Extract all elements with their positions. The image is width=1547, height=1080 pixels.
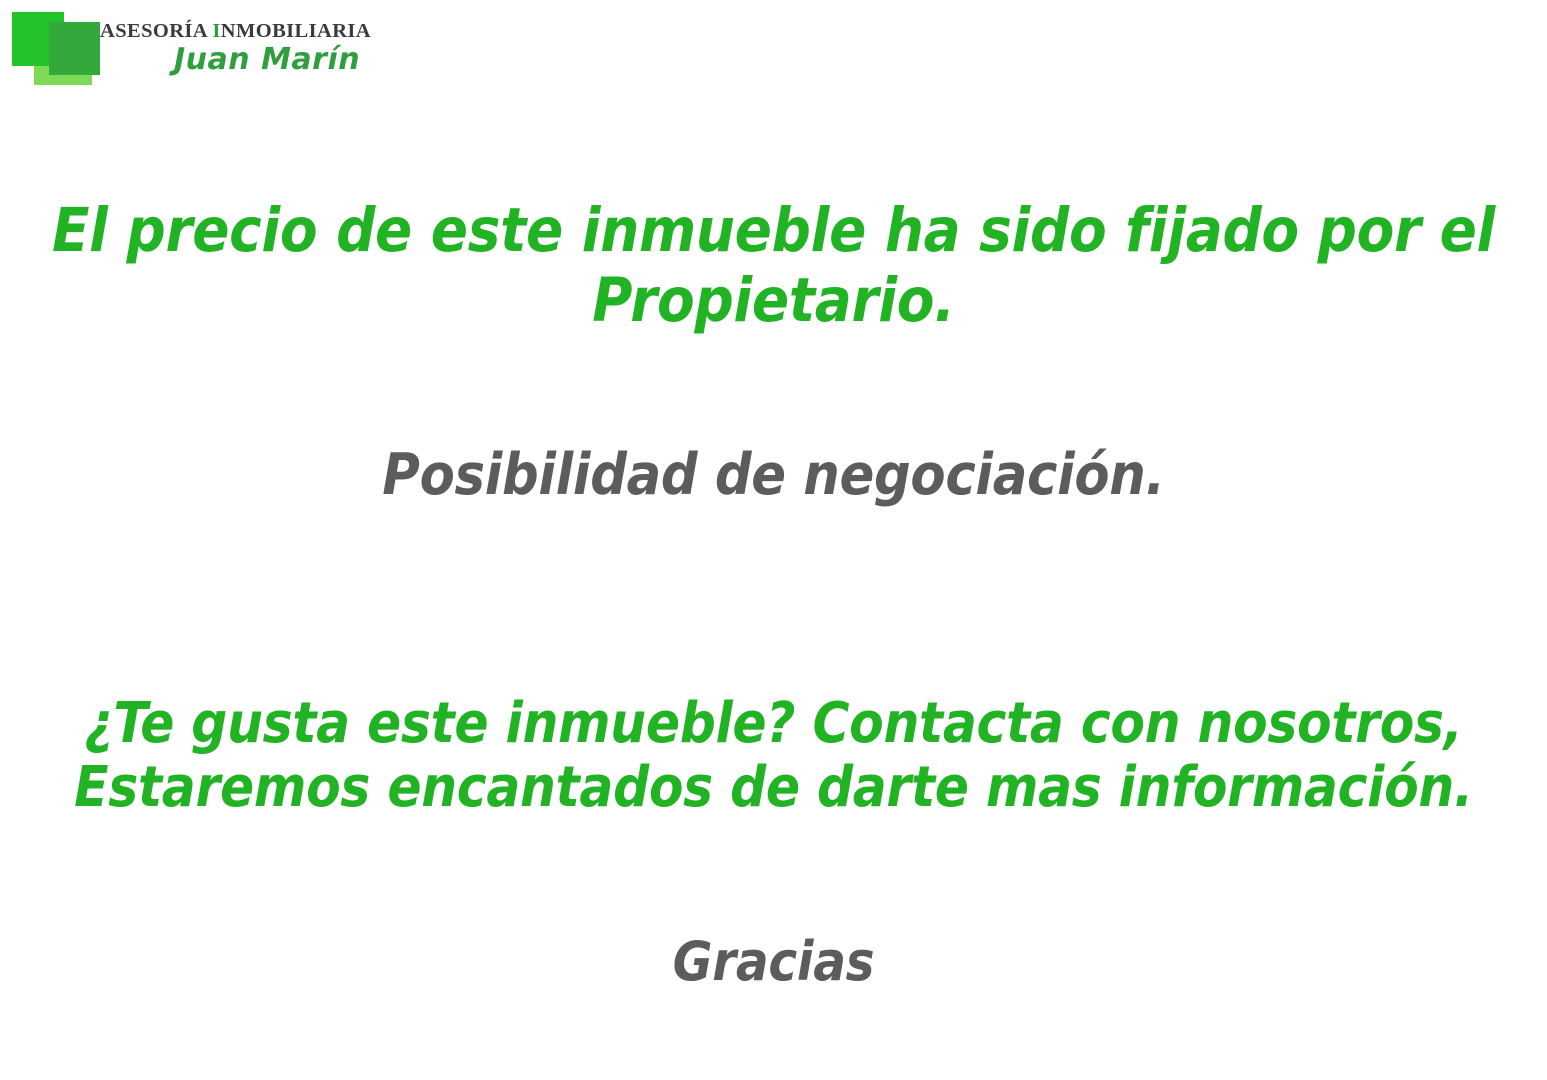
logo-person-name: Juan Marín [174,42,360,77]
posibilidad-line-1: Posibilidad de negociación. [0,443,1547,508]
message-negotiation: Posibilidad de negociación. [0,443,1547,508]
logo-company-suffix: NMOBILIARIA [221,20,371,42]
logo-company-initial: I [212,20,220,42]
precio-line-2: Propietario. [0,266,1547,336]
contacta-line-1: ¿Te gusta este inmueble? Contacta con no… [0,692,1547,756]
logo-company-name: ASESORÍA INMOBILIARIA [100,20,371,43]
contacta-line-2: Estaremos encantados de darte mas inform… [0,756,1547,820]
logo-wordmark: ASESORÍA INMOBILIARIA Juan Marín [100,20,370,94]
company-logo: ASESORÍA INMOBILIARIA Juan Marín [8,6,368,96]
gracias-line-1: Gracias [0,931,1547,993]
message-price-set-by-owner: El precio de este inmueble ha sido fijad… [0,196,1547,335]
logo-square-dark-icon [49,22,100,75]
precio-line-1: El precio de este inmueble ha sido fijad… [0,196,1547,266]
logo-company-prefix: ASESORÍA [100,20,212,42]
logo-squares-icon [8,6,104,90]
message-thanks: Gracias [0,931,1547,993]
slide-canvas: ASESORÍA INMOBILIARIA Juan Marín El prec… [0,0,1547,1080]
message-contact-cta: ¿Te gusta este inmueble? Contacta con no… [0,692,1547,820]
